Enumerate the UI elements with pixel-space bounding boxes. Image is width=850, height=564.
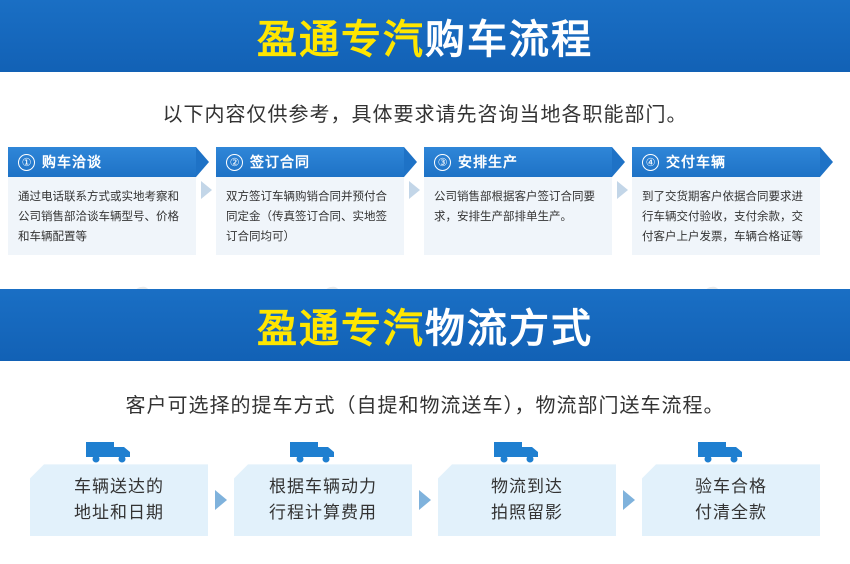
- truck-icon-wrap: [642, 440, 820, 464]
- chevron-right-icon: [617, 181, 628, 199]
- step-number-icon: ④: [642, 154, 659, 171]
- subtitle-purchase: 以下内容仅供参考，具体要求请先咨询当地各职能部门。: [0, 72, 850, 147]
- banner-purchase-process: 盈通专汽购车流程: [0, 0, 850, 72]
- banner-title-highlight: 盈通专汽: [257, 306, 425, 352]
- truck-icon: [698, 440, 744, 464]
- logistics-card: 根据车辆动力 行程计算费用: [234, 440, 412, 536]
- truck-icon: [494, 440, 540, 464]
- banner-title-highlight: 盈通专汽: [257, 17, 425, 63]
- logistics-box: 车辆送达的 地址和日期: [30, 464, 208, 536]
- truck-icon-wrap: [438, 440, 616, 464]
- logistics-separator: [616, 440, 642, 510]
- step-title: 购车洽谈: [42, 152, 102, 172]
- step-card: ① 购车洽谈 通过电话联系方式或实地考察和公司销售部洽谈车辆型号、价格和车辆配置…: [8, 147, 196, 255]
- step-number-icon: ①: [18, 154, 35, 171]
- logistics-steps: 车辆送达的 地址和日期 根据车辆动力 行程计算费用: [0, 440, 850, 536]
- banner-title-rest: 购车流程: [425, 17, 593, 63]
- logistics-card: 车辆送达的 地址和日期: [30, 440, 208, 536]
- truck-icon-wrap: [234, 440, 412, 464]
- logistics-line-1: 验车合格: [695, 474, 767, 500]
- step-card: ④ 交付车辆 到了交货期客户依据合同要求进行车辆交付验收，支付余款，交付客户上户…: [632, 147, 820, 255]
- chevron-right-icon: [215, 490, 227, 510]
- logistics-line-2: 拍照留影: [491, 500, 563, 526]
- banner-logistics: 盈通专汽物流方式: [0, 289, 850, 361]
- chevron-right-icon: [623, 490, 635, 510]
- purchase-steps: ① 购车洽谈 通过电话联系方式或实地考察和公司销售部洽谈车辆型号、价格和车辆配置…: [0, 147, 850, 255]
- logistics-card: 物流到达 拍照留影: [438, 440, 616, 536]
- logistics-box: 根据车辆动力 行程计算费用: [234, 464, 412, 536]
- logistics-separator: [208, 440, 234, 510]
- truck-icon: [86, 440, 132, 464]
- step-body: 公司销售部根据客户签订合同要求，安排生产部排单生产。: [424, 177, 612, 255]
- step-body: 双方签订车辆购销合同并预付合同定金（传真签订合同、实地签订合同均可）: [216, 177, 404, 255]
- truck-icon: [290, 440, 336, 464]
- logistics-line-2: 地址和日期: [74, 500, 164, 526]
- step-header: ④ 交付车辆: [632, 147, 820, 177]
- step-header: ① 购车洽谈: [8, 147, 196, 177]
- truck-icon-wrap: [30, 440, 208, 464]
- step-card: ③ 安排生产 公司销售部根据客户签订合同要求，安排生产部排单生产。: [424, 147, 612, 255]
- step-number-icon: ③: [434, 154, 451, 171]
- subtitle-logistics: 客户可选择的提车方式（自提和物流送车），物流部门送车流程。: [0, 361, 850, 440]
- chevron-right-icon: [201, 181, 212, 199]
- logistics-separator: [412, 440, 438, 510]
- step-body: 通过电话联系方式或实地考察和公司销售部洽谈车辆型号、价格和车辆配置等: [8, 177, 196, 255]
- logistics-card: 验车合格 付清全款: [642, 440, 820, 536]
- banner-title-rest: 物流方式: [425, 306, 593, 352]
- logistics-line-2: 付清全款: [695, 500, 767, 526]
- chevron-right-icon: [409, 181, 420, 199]
- step-title: 签订合同: [250, 152, 310, 172]
- logistics-box: 物流到达 拍照留影: [438, 464, 616, 536]
- logistics-box: 验车合格 付清全款: [642, 464, 820, 536]
- logistics-line-1: 物流到达: [491, 474, 563, 500]
- chevron-right-icon: [419, 490, 431, 510]
- step-title: 交付车辆: [666, 152, 726, 172]
- banner-title: 盈通专汽购车流程: [257, 7, 593, 65]
- logistics-line-1: 根据车辆动力: [269, 474, 377, 500]
- step-body: 到了交货期客户依据合同要求进行车辆交付验收，支付余款，交付客户上户发票，车辆合格…: [632, 177, 820, 255]
- step-header: ③ 安排生产: [424, 147, 612, 177]
- step-number-icon: ②: [226, 154, 243, 171]
- banner-title: 盈通专汽物流方式: [257, 296, 593, 354]
- logistics-line-1: 车辆送达的: [74, 474, 164, 500]
- logistics-line-2: 行程计算费用: [269, 500, 377, 526]
- step-title: 安排生产: [458, 152, 518, 172]
- step-header: ② 签订合同: [216, 147, 404, 177]
- step-card: ② 签订合同 双方签订车辆购销合同并预付合同定金（传真签订合同、实地签订合同均可…: [216, 147, 404, 255]
